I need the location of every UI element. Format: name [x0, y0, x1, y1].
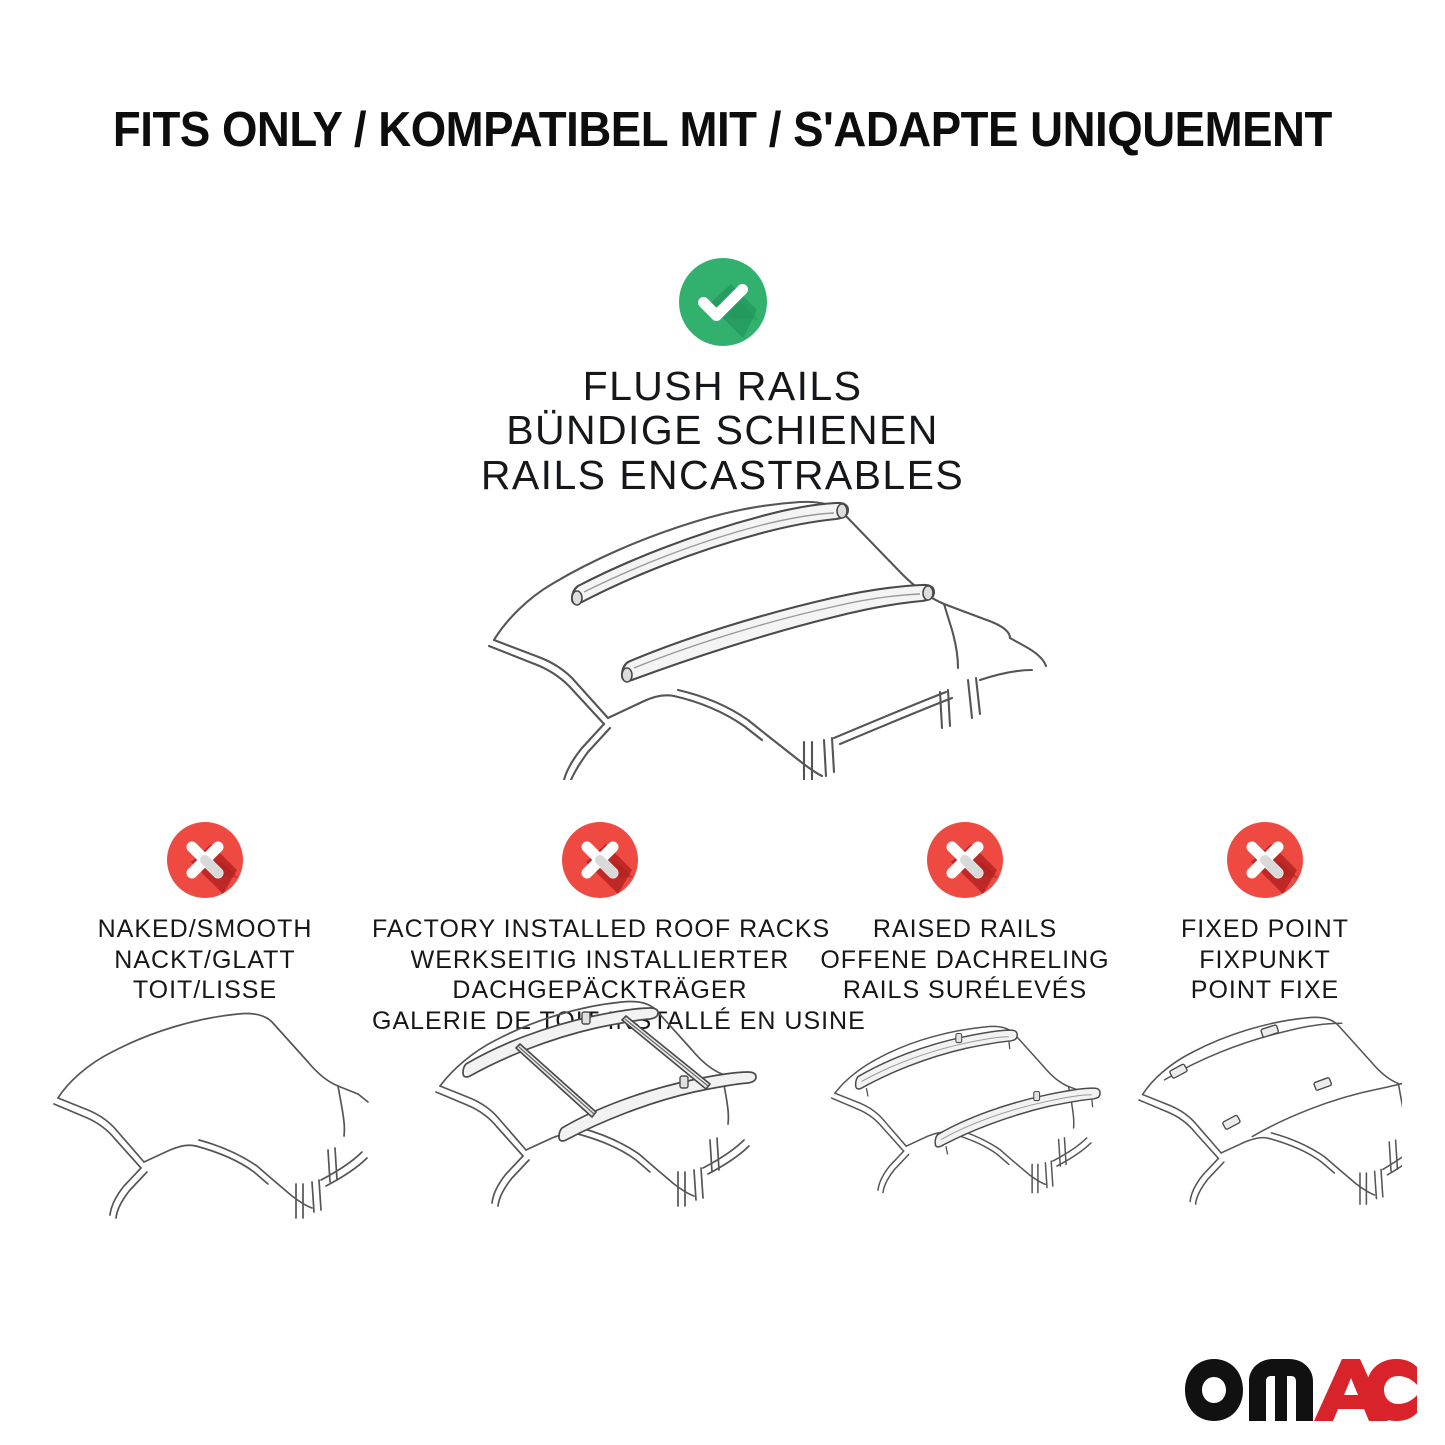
caption-line-fr: POINT FIXE: [1128, 975, 1402, 1006]
logo-letter-o: [1185, 1359, 1243, 1421]
page-title-text: FITS ONLY / KOMPATIBEL MIT / S'ADAPTE UN…: [113, 102, 1332, 158]
logo-letter-m: [1249, 1359, 1313, 1421]
x-circle-icon: [167, 822, 243, 898]
incompatible-section: NAKED/SMOOTH NACKT/GLATT TOIT/LISSE: [0, 822, 1445, 1252]
incompatible-caption-naked-smooth: NAKED/SMOOTH NACKT/GLATT TOIT/LISSE: [40, 914, 370, 1006]
caption-line-de: NACKT/GLATT: [40, 945, 370, 976]
car-roof-raised-rails-illustration: [820, 998, 1110, 1238]
incompatible-item-factory-roof-racks: FACTORY INSTALLED ROOF RACKS WERKSEITIG …: [372, 822, 828, 1036]
car-roof-naked-smooth-illustration: [40, 1010, 370, 1235]
caption-line-en: FACTORY INSTALLED ROOF RACKS: [372, 914, 828, 945]
car-roof-flush-rails-illustration: [432, 480, 1052, 780]
omac-logo: OMAC: [1183, 1357, 1419, 1423]
x-circle-icon: [1227, 822, 1303, 898]
caption-line-en: FIXED POINT: [1128, 914, 1402, 945]
caption-line-en: RAISED RAILS: [820, 914, 1110, 945]
compatible-section: FLUSH RAILS BÜNDIGE SCHIENEN RAILS ENCAS…: [0, 258, 1445, 497]
incompatible-caption-fixed-point: FIXED POINT FIXPUNKT POINT FIXE: [1128, 914, 1402, 1006]
page-title: FITS ONLY / KOMPATIBEL MIT / S'ADAPTE UN…: [0, 102, 1445, 158]
x-circle-icon: [927, 822, 1003, 898]
caption-line-en: NAKED/SMOOTH: [40, 914, 370, 945]
x-circle-icon: [562, 822, 638, 898]
incompatible-item-raised-rails: RAISED RAILS OFFENE DACHRELING RAILS SUR…: [820, 822, 1110, 1006]
caption-line-fr: TOIT/LISSE: [40, 975, 370, 1006]
car-roof-fixed-point-illustration: [1128, 1006, 1402, 1236]
car-roof-factory-roof-racks-illustration: [372, 990, 828, 1235]
caption-line-de: OFFENE DACHRELING: [820, 945, 1110, 976]
caption-line-de: FIXPUNKT: [1128, 945, 1402, 976]
incompatible-caption-raised-rails: RAISED RAILS OFFENE DACHRELING RAILS SUR…: [820, 914, 1110, 1006]
compatible-caption: FLUSH RAILS BÜNDIGE SCHIENEN RAILS ENCAS…: [0, 364, 1445, 497]
caption-line-de-1: WERKSEITIG INSTALLIERTER: [372, 945, 828, 976]
check-circle-icon: [679, 258, 767, 346]
incompatible-item-naked-smooth: NAKED/SMOOTH NACKT/GLATT TOIT/LISSE: [40, 822, 370, 1006]
compatible-caption-line-en: FLUSH RAILS: [0, 364, 1445, 408]
compatible-caption-line-de: BÜNDIGE SCHIENEN: [0, 408, 1445, 452]
incompatible-item-fixed-point: FIXED POINT FIXPUNKT POINT FIXE: [1128, 822, 1402, 1006]
